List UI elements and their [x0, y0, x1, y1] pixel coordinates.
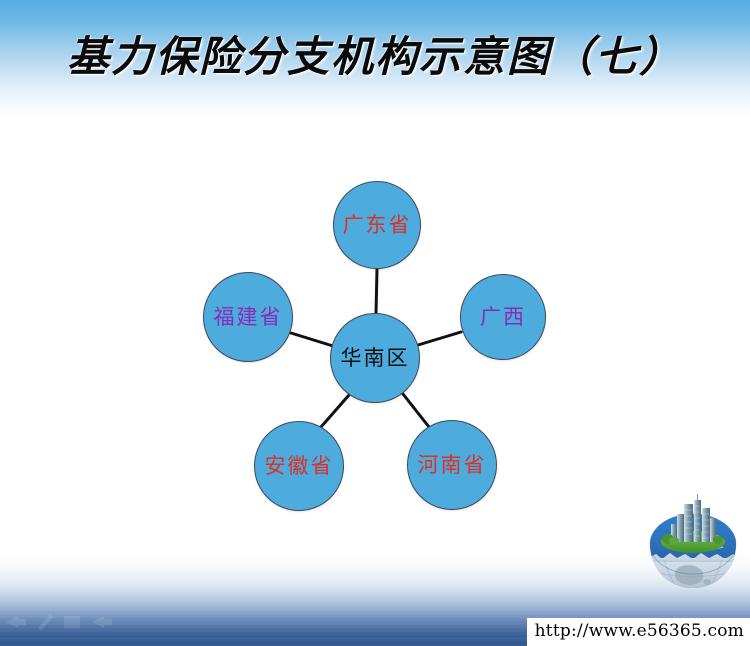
watermark-url: http://www.e56365.com [527, 618, 750, 646]
node-henan[interactable]: 河南省 [407, 420, 497, 510]
node-guangdong[interactable]: 广东省 [333, 181, 421, 269]
edge-huanan-anhui [321, 395, 349, 427]
node-fujian[interactable]: 福建省 [203, 272, 293, 362]
edge-huanan-guangdong [376, 269, 377, 313]
node-huanan-center[interactable]: 华南区 [330, 313, 420, 403]
node-guangxi[interactable]: 广西 [460, 274, 546, 360]
node-label-guangdong: 广东省 [343, 215, 412, 236]
node-anhui[interactable]: 安徽省 [254, 421, 344, 511]
sea-ghost-shapes [4, 606, 129, 632]
node-label-guangxi: 广西 [480, 307, 526, 328]
node-label-henan: 河南省 [418, 455, 487, 476]
edge-huanan-fujian [291, 333, 333, 346]
globe-city-logo [644, 494, 742, 598]
node-label-anhui: 安徽省 [265, 456, 334, 477]
node-label-huanan: 华南区 [341, 348, 410, 369]
edge-huanan-henan [403, 394, 429, 427]
node-label-fujian: 福建省 [214, 307, 283, 328]
slide-canvas: 基力保险分支机构示意图（七） 广东省 福建省 广西 华南区 [0, 0, 750, 646]
edge-huanan-guangxi [418, 332, 461, 345]
org-diagram: 广东省 福建省 广西 华南区 安徽省 河南省 [0, 0, 750, 646]
